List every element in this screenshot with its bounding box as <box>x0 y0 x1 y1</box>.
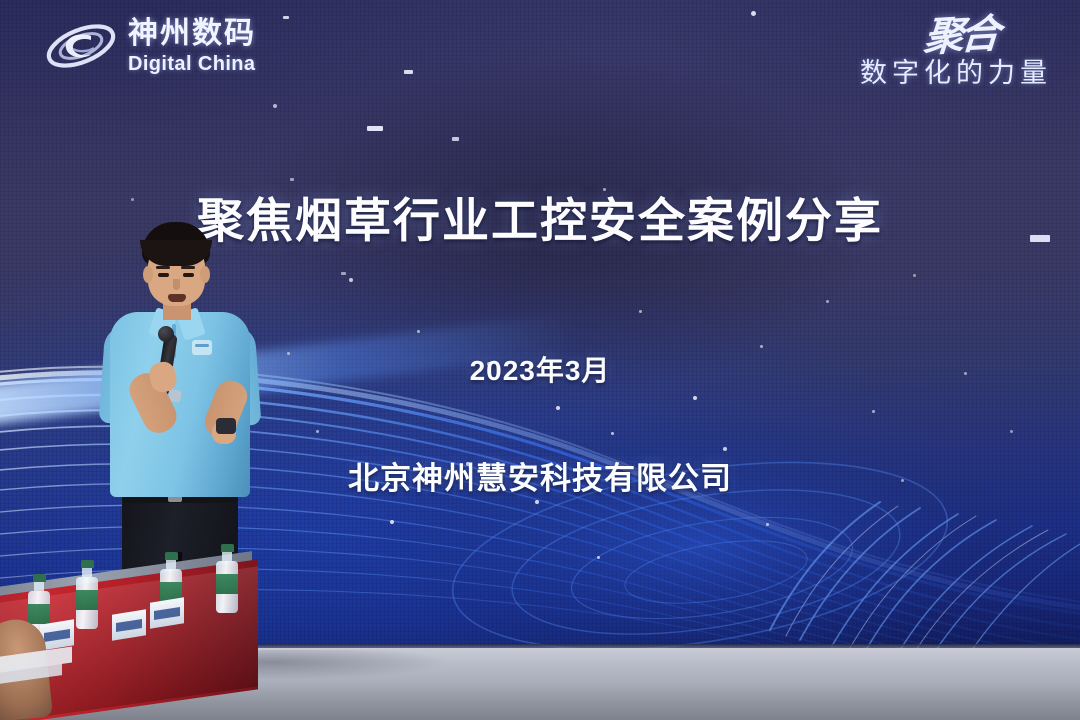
speaker-ear-right <box>200 266 210 283</box>
speaker-chest-logo-icon <box>192 340 212 355</box>
speaker-brow-left <box>156 266 170 269</box>
water-bottle <box>216 544 238 613</box>
speaker-eye-right <box>183 273 194 277</box>
speaker-eye-left <box>158 273 169 277</box>
slogan-brush-text: 聚合 <box>923 16 998 57</box>
brand-name-cn: 神州数码 <box>128 19 256 49</box>
galaxy-swirl-icon <box>44 16 118 76</box>
speaker-mouth <box>168 294 186 302</box>
speaker-brow-right <box>181 266 195 269</box>
brand-logo: 神州数码 Digital China <box>44 16 256 76</box>
brand-name-en: Digital China <box>128 54 256 74</box>
water-bottle <box>76 560 98 629</box>
microphone-head-icon <box>158 326 174 342</box>
name-card <box>112 609 146 640</box>
conference-photo: 神州数码 Digital China 聚合 数字化的力量 聚焦烟草行业工控安全案… <box>0 0 1080 720</box>
event-slogan: 聚合 数字化的力量 <box>860 18 1052 90</box>
speaker-nose <box>173 279 180 290</box>
speaker-ear-left <box>143 266 153 283</box>
name-card <box>150 597 184 628</box>
presentation-clicker-icon <box>216 418 236 434</box>
